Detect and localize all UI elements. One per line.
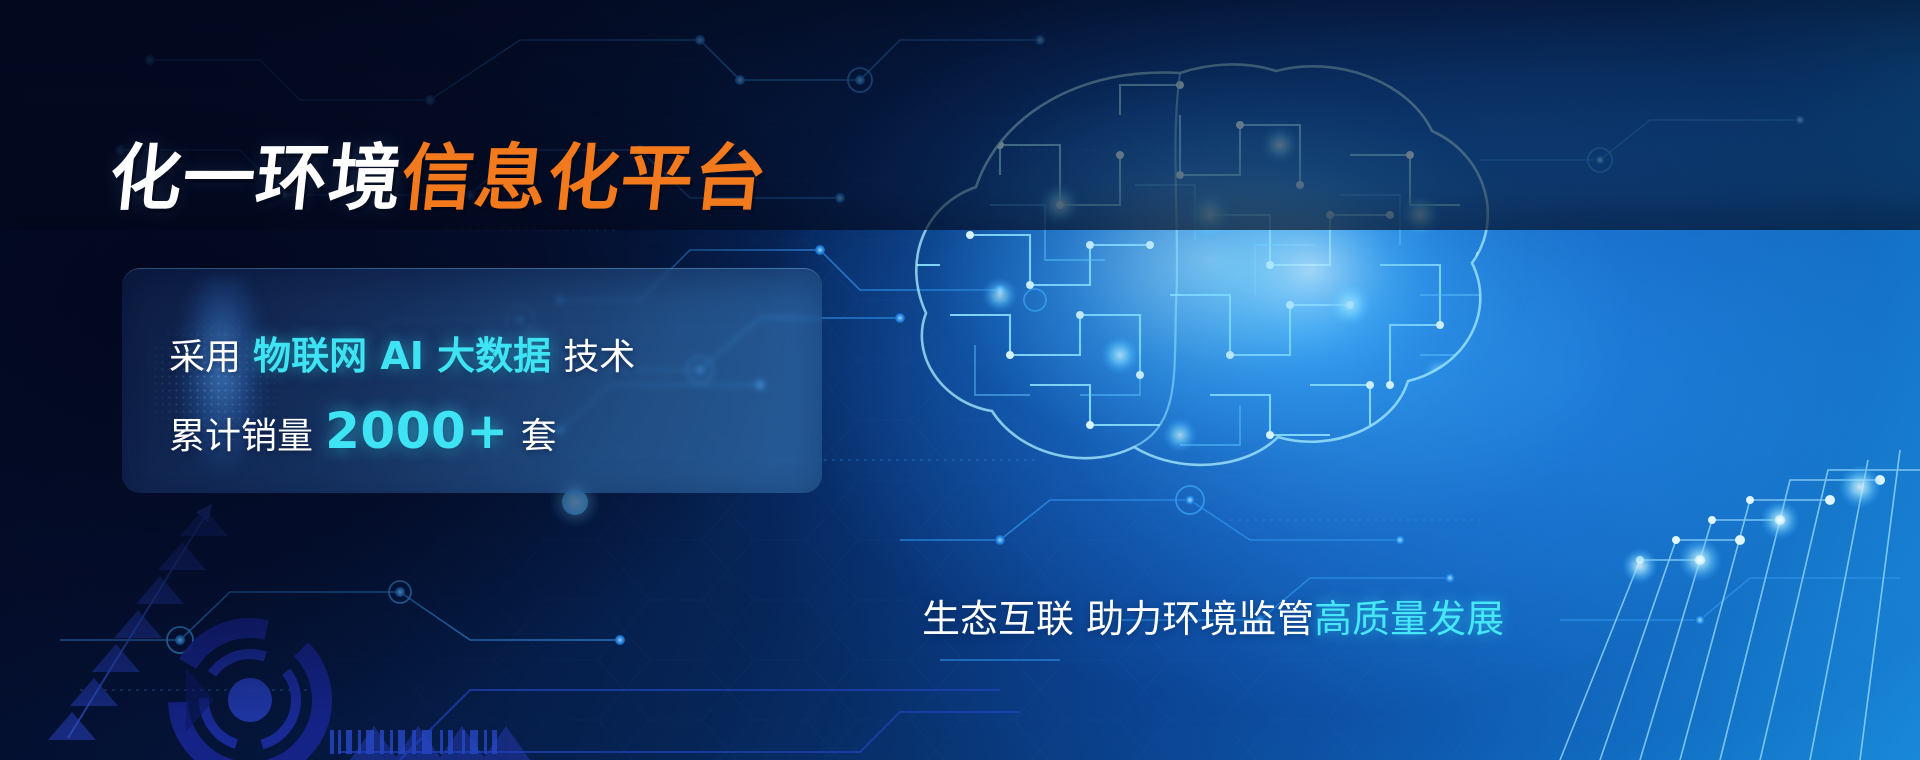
tagline-cyan-part: 高质量发展 — [1314, 597, 1504, 641]
tagline-white-part: 生态互联 助力环境监管 — [922, 597, 1314, 641]
card-line1-highlight: 物联网 AI 大数据 — [253, 334, 551, 378]
card-line2-prefix: 累计销量 — [169, 416, 313, 457]
hero-banner: 化一环境信息化平台 采用 物联网 AI 大数据 技术 累计销量 2000+ 套 … — [0, 0, 1920, 760]
page-title: 化一环境信息化平台 — [106, 142, 771, 214]
tagline: 生态互联 助力环境监管高质量发展 — [922, 588, 1504, 643]
data-barcode — [330, 730, 497, 754]
card-line-sales: 累计销量 2000+ 套 — [169, 402, 557, 460]
card-line2-suffix: 套 — [521, 416, 557, 457]
feature-card: 采用 物联网 AI 大数据 技术 累计销量 2000+ 套 — [122, 268, 822, 493]
chevron-arrow-trail — [48, 508, 228, 740]
title-orange-part: 信息化平台 — [398, 136, 772, 220]
card-line1-suffix: 技术 — [563, 337, 635, 378]
brain-glow — [930, 70, 1530, 470]
title-white-part: 化一环境 — [106, 136, 407, 220]
card-line-technology: 采用 物联网 AI 大数据 技术 — [169, 325, 635, 380]
radar-dial — [178, 628, 322, 760]
card-sales-number: 2000+ — [325, 402, 509, 460]
card-line1-prefix: 采用 — [169, 337, 241, 378]
